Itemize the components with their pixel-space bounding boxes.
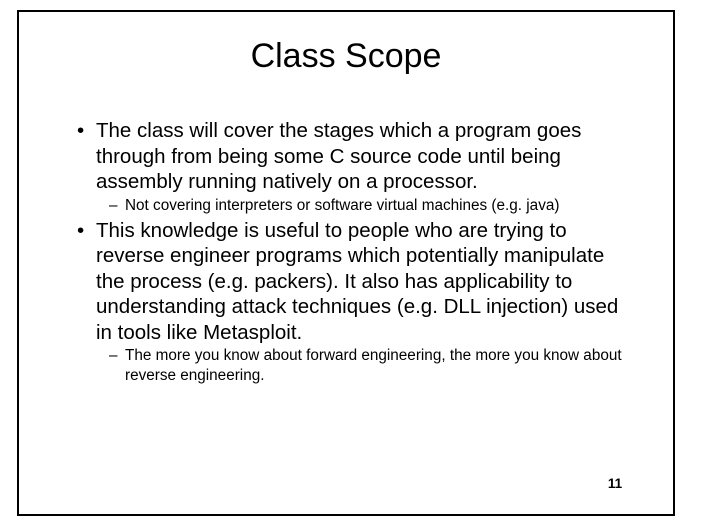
bullet-dash-icon: – <box>109 346 118 366</box>
page-number: 11 <box>600 476 630 492</box>
bullet-item-level2: – Not covering interpreters or software … <box>70 196 630 216</box>
sub-bullet-text: The more you know about forward engineer… <box>125 347 622 384</box>
bullet-item-level1: • The class will cover the stages which … <box>70 118 630 195</box>
bullet-dash-icon: – <box>109 196 118 216</box>
slide-canvas: Class Scope • The class will cover the s… <box>0 0 706 530</box>
bullet-item-level1: • This knowledge is useful to people who… <box>70 218 630 346</box>
bullet-text: The class will cover the stages which a … <box>96 119 581 193</box>
bullet-dot-icon: • <box>77 118 84 144</box>
slide-title: Class Scope <box>17 36 675 76</box>
bullet-item-level2: – The more you know about forward engine… <box>70 346 630 386</box>
bullet-dot-icon: • <box>77 218 84 244</box>
bullet-text: This knowledge is useful to people who a… <box>96 219 618 344</box>
sub-bullet-text: Not covering interpreters or software vi… <box>125 197 559 214</box>
slide-body-content: • The class will cover the stages which … <box>70 118 630 388</box>
